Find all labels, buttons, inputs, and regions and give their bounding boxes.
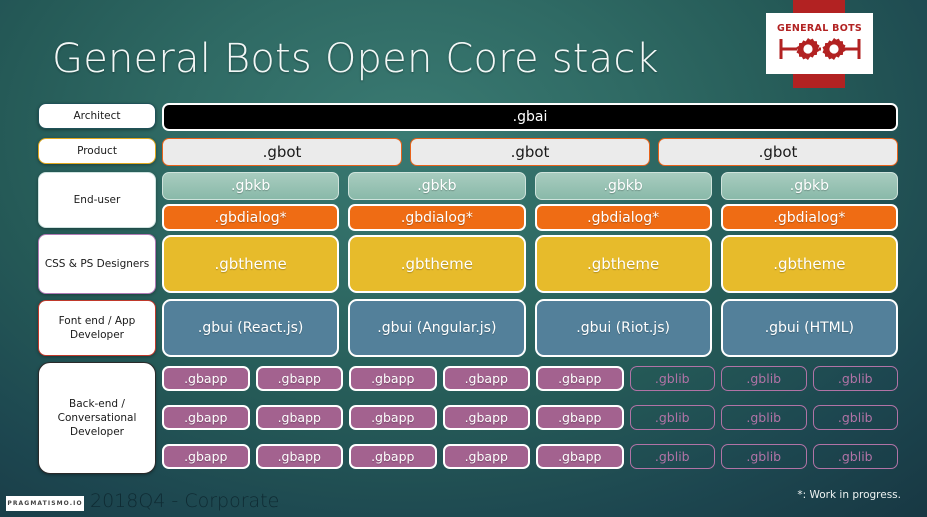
- stack-cell-gblib: .gblib: [813, 366, 899, 391]
- stack-cell-gbtheme: .gbtheme: [535, 235, 712, 293]
- footer-caption: 2018Q4 - Corporate: [90, 490, 279, 512]
- stack-cell-gblib: .gblib: [630, 444, 716, 469]
- stack-cell-gblib: .gblib: [721, 444, 807, 469]
- stack-row-gbapp-gblib: .gbapp .gbapp .gbapp .gbapp .gbapp .gbli…: [162, 366, 898, 391]
- pragmatismo-wordmark: PRAGMATISMO.IO: [7, 500, 82, 507]
- stack-cell-gbapp: .gbapp: [162, 444, 250, 469]
- stack-cell-gblib: .gblib: [813, 444, 899, 469]
- stack-row-gbapp-gblib: .gbapp .gbapp .gbapp .gbapp .gbapp .gbli…: [162, 405, 898, 430]
- stack-cell-gbdialog: .gbdialog*: [348, 204, 525, 231]
- stack-cell-gbkb: .gbkb: [721, 172, 898, 200]
- stack-cell-gbot: .gbot: [162, 138, 402, 166]
- stack-cell-gblib: .gblib: [721, 405, 807, 430]
- stack-cell-gbapp: .gbapp: [256, 366, 344, 391]
- role-label-text: End-user: [74, 193, 121, 207]
- stack-cell-gbot: .gbot: [410, 138, 650, 166]
- role-label-text: Product: [77, 144, 117, 158]
- stack-cell-gbapp: .gbapp: [349, 444, 437, 469]
- stack-row-gbui: .gbui (React.js) .gbui (Angular.js) .gbu…: [162, 299, 898, 357]
- stack-row-gbai: .gbai: [162, 103, 898, 131]
- stack-cell-gbapp: .gbapp: [162, 366, 250, 391]
- stack-cell-gbkb: .gbkb: [348, 172, 525, 200]
- stack-cell-gbapp: .gbapp: [536, 405, 624, 430]
- stack-cell-gbai: .gbai: [162, 103, 898, 131]
- stack-row-gbtheme: .gbtheme .gbtheme .gbtheme .gbtheme: [162, 235, 898, 293]
- stack-cell-gbapp: .gbapp: [162, 405, 250, 430]
- stack-row-gbdialog: .gbdialog* .gbdialog* .gbdialog* .gbdial…: [162, 204, 898, 231]
- pragmatismo-logo: PRAGMATISMO.IO: [6, 496, 84, 511]
- slide-canvas: General Bots Open Core stack GENERAL BOT…: [0, 0, 927, 517]
- stack-cell-gbdialog: .gbdialog*: [162, 204, 339, 231]
- role-label-architect: Architect: [38, 103, 156, 129]
- stack-row-gbapp-gblib: .gbapp .gbapp .gbapp .gbapp .gbapp .gbli…: [162, 444, 898, 469]
- role-label-text: Font end / App Developer: [43, 314, 151, 342]
- stack-cell-gbapp: .gbapp: [256, 405, 344, 430]
- role-label-css-ps-designers: CSS & PS Designers: [38, 234, 156, 294]
- stack-diagram: .gbai .gbot .gbot .gbot .gbkb .gbkb .gbk…: [162, 0, 898, 517]
- stack-cell-gblib: .gblib: [813, 405, 899, 430]
- stack-cell-gbdialog: .gbdialog*: [721, 204, 898, 231]
- stack-cell-gbapp: .gbapp: [443, 444, 531, 469]
- stack-cell-gbapp: .gbapp: [256, 444, 344, 469]
- stack-row-gbot: .gbot .gbot .gbot: [162, 138, 898, 166]
- stack-cell-gbapp: .gbapp: [443, 405, 531, 430]
- stack-cell-gblib: .gblib: [630, 405, 716, 430]
- role-label-product: Product: [38, 138, 156, 164]
- role-label-back-end-conversational-developer: Back-end / Conversational Developer: [38, 362, 156, 474]
- stack-cell-gbapp: .gbapp: [349, 405, 437, 430]
- stack-row-gbkb: .gbkb .gbkb .gbkb .gbkb: [162, 172, 898, 200]
- stack-cell-gbui-html: .gbui (HTML): [721, 299, 898, 357]
- footnote-work-in-progress: *: Work in progress.: [797, 489, 901, 501]
- stack-cell-gbdialog: .gbdialog*: [535, 204, 712, 231]
- stack-cell-gbtheme: .gbtheme: [348, 235, 525, 293]
- stack-cell-gbot: .gbot: [658, 138, 898, 166]
- role-label-text: Back-end / Conversational Developer: [43, 397, 151, 440]
- stack-cell-gbkb: .gbkb: [535, 172, 712, 200]
- stack-cell-gbui-riot: .gbui (Riot.js): [535, 299, 712, 357]
- stack-cell-gbapp: .gbapp: [536, 444, 624, 469]
- role-label-text: Architect: [73, 109, 120, 123]
- stack-cell-gbtheme: .gbtheme: [162, 235, 339, 293]
- stack-cell-gbapp: .gbapp: [443, 366, 531, 391]
- stack-cell-gbkb: .gbkb: [162, 172, 339, 200]
- stack-cell-gbtheme: .gbtheme: [721, 235, 898, 293]
- stack-cell-gblib: .gblib: [721, 366, 807, 391]
- stack-cell-gbapp: .gbapp: [349, 366, 437, 391]
- stack-cell-gbui-react: .gbui (React.js): [162, 299, 339, 357]
- stack-cell-gbapp: .gbapp: [536, 366, 624, 391]
- stack-cell-gbui-angular: .gbui (Angular.js): [348, 299, 525, 357]
- role-label-text: CSS & PS Designers: [45, 257, 149, 271]
- role-label-end-user: End-user: [38, 172, 156, 228]
- stack-cell-gblib: .gblib: [630, 366, 716, 391]
- role-label-front-end-app-developer: Font end / App Developer: [38, 300, 156, 356]
